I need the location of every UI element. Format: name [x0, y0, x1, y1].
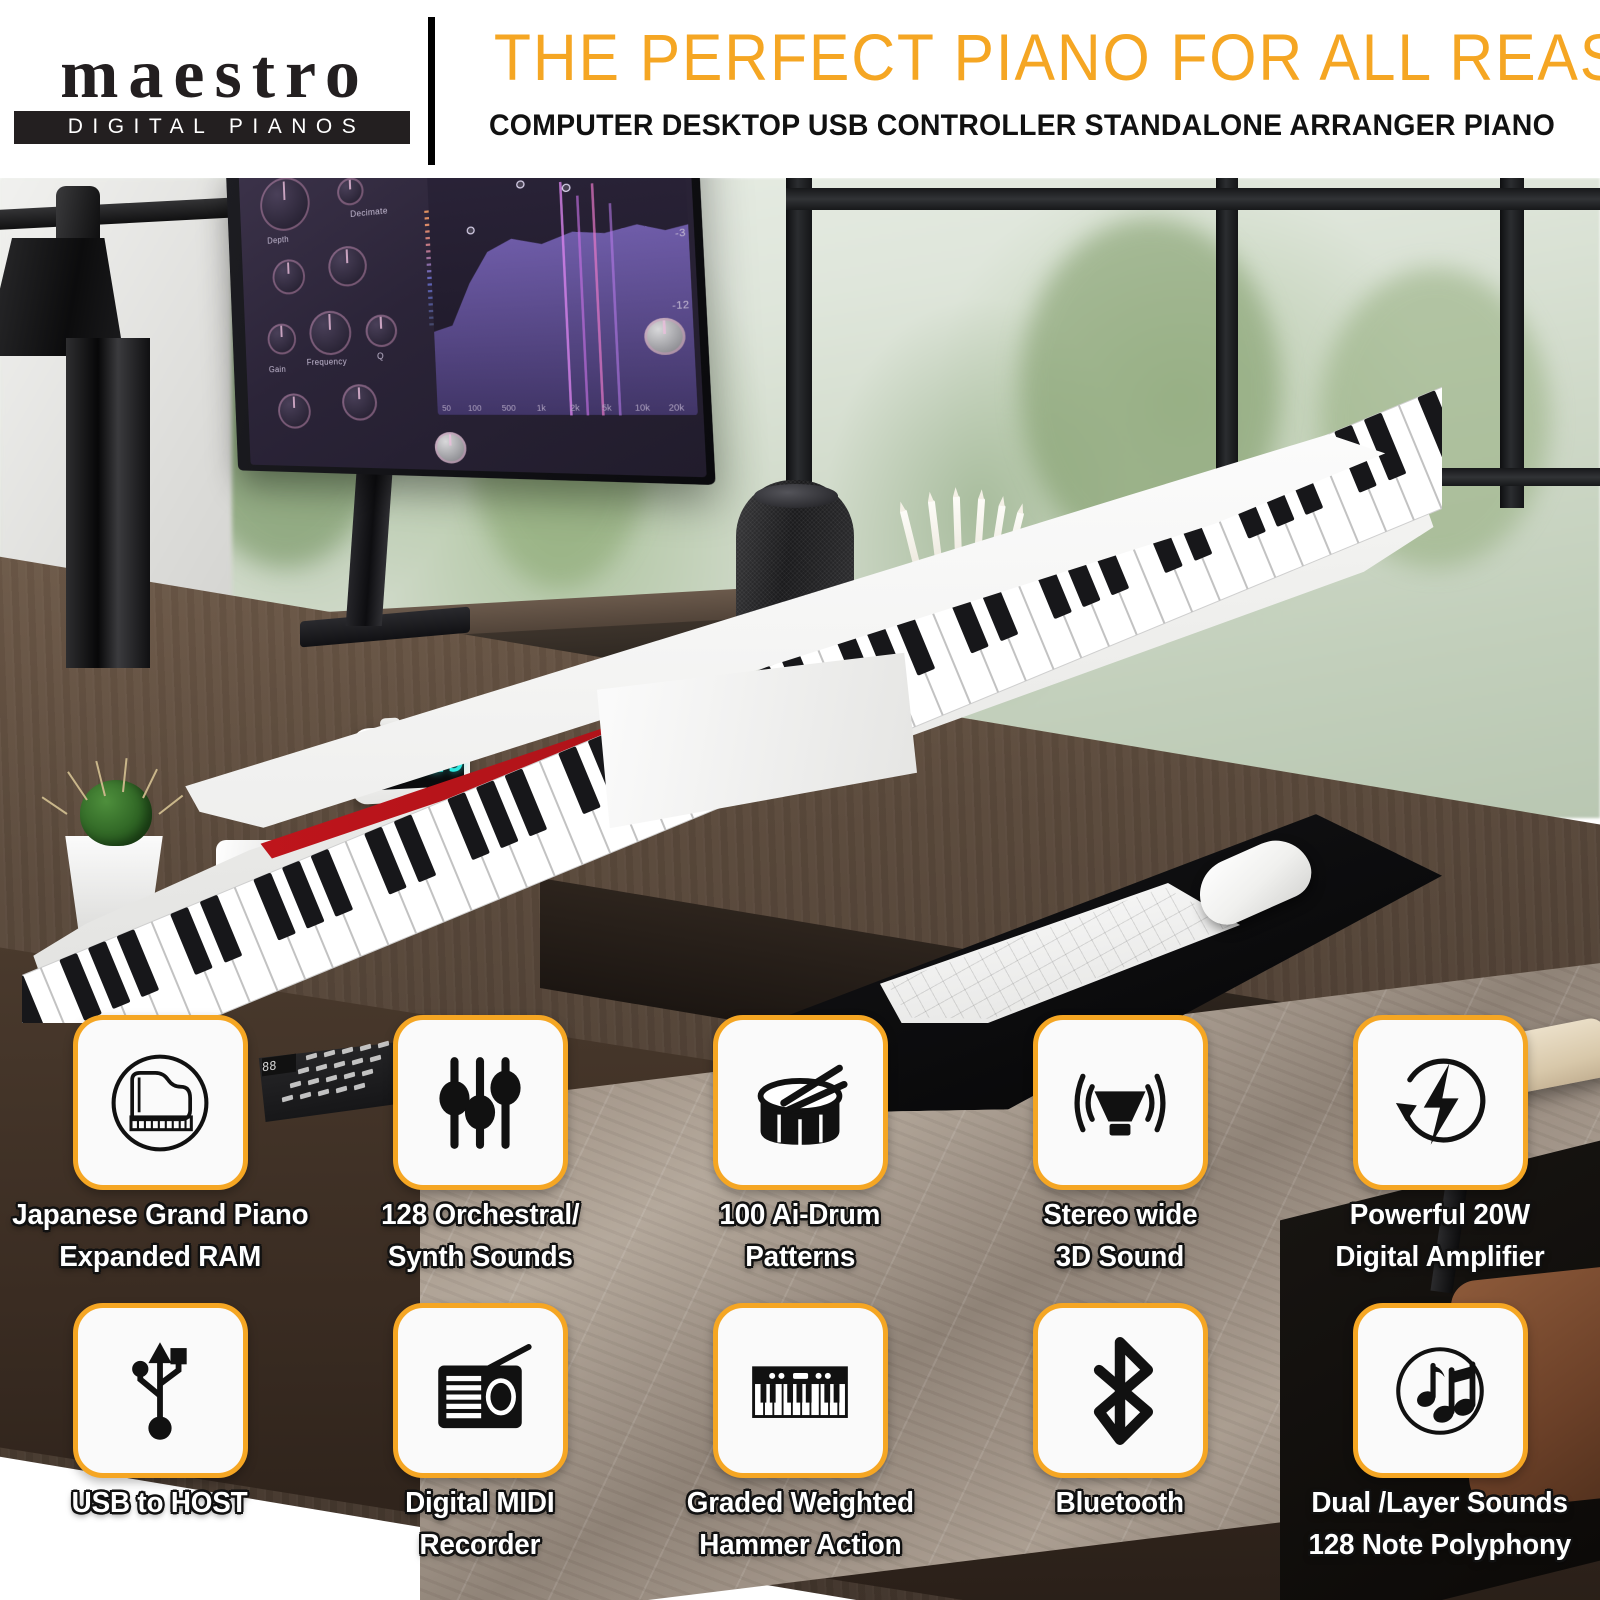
- feature-tile[interactable]: [73, 1303, 248, 1478]
- feature-tile[interactable]: [713, 1015, 888, 1190]
- q-knob[interactable]: [365, 314, 398, 348]
- eq-node[interactable]: [562, 183, 571, 192]
- feature-tile[interactable]: [1353, 1303, 1528, 1478]
- subheadline: COMPUTER DESKTOP USB CONTROLLER STANDALO…: [477, 108, 1568, 144]
- feature-hammer-action[interactable]: Graded Weighted Hammer Action: [640, 1303, 960, 1562]
- decimate-label: Decimate: [350, 206, 388, 219]
- feature-caption-line2: Hammer Action: [699, 1529, 901, 1562]
- feature-usb-host[interactable]: USB to HOST: [0, 1303, 320, 1562]
- headline: THE PERFECT PIANO FOR ALL REASONS: [494, 18, 1550, 96]
- header-divider: [428, 17, 435, 165]
- brand-name: maestro: [14, 42, 410, 109]
- faders-icon: [422, 1045, 538, 1161]
- feature-tile[interactable]: [713, 1303, 888, 1478]
- feature-row-2: USB to HOST: [0, 1303, 1600, 1562]
- feature-caption-line1: Bluetooth: [1056, 1487, 1184, 1520]
- feature-caption-line1: Dual /Layer Sounds: [1312, 1487, 1568, 1520]
- feature-icon-grid: Japanese Grand Piano Expanded RAM: [0, 1015, 1600, 1600]
- output-gain-knob[interactable]: [327, 245, 367, 288]
- feature-caption-line1: Stereo wide: [1043, 1199, 1197, 1232]
- product-marketing-image: maestro DIGITAL PIANOS THE PERFECT PIANO…: [0, 0, 1600, 1600]
- feature-caption-line2: 3D Sound: [1056, 1241, 1184, 1274]
- feature-caption-line1: Graded Weighted: [686, 1487, 913, 1520]
- feature-caption-line1: USB to HOST: [72, 1487, 248, 1520]
- feature-synth-sounds[interactable]: 128 Orchestral/ Synth Sounds: [320, 1015, 640, 1274]
- feature-polyphony[interactable]: Dual /Layer Sounds 128 Note Polyphony: [1280, 1303, 1600, 1562]
- drum-icon: [742, 1045, 858, 1161]
- feature-drum-patterns[interactable]: 100 Ai-Drum Patterns: [640, 1015, 960, 1274]
- feature-caption-line2: 128 Note Polyphony: [1309, 1529, 1572, 1562]
- speaker-waves-icon: [1062, 1045, 1178, 1161]
- db-tick: -12: [672, 299, 690, 311]
- bluetooth-icon: [1062, 1333, 1178, 1449]
- eq-node[interactable]: [467, 227, 475, 236]
- depth-label: Depth: [267, 235, 289, 246]
- frequency-knob[interactable]: [309, 310, 353, 356]
- feature-3d-sound[interactable]: Stereo wide 3D Sound: [960, 1015, 1280, 1274]
- feature-tile[interactable]: [393, 1015, 568, 1190]
- keyboard-keys-icon: [742, 1333, 858, 1449]
- feature-row-1: Japanese Grand Piano Expanded RAM: [0, 1015, 1600, 1274]
- feature-caption-line2: Expanded RAM: [59, 1241, 261, 1274]
- digital-piano: [22, 383, 1442, 1023]
- db-tick: -3: [675, 227, 686, 239]
- brand-logo: maestro DIGITAL PIANOS: [14, 42, 410, 144]
- radio-recorder-icon: [422, 1333, 538, 1449]
- brand-tagline: DIGITAL PIANOS: [59, 115, 366, 139]
- eq-curve-display[interactable]: 50 100 500 1k 2k 5k 10k 20k: [427, 178, 698, 415]
- feature-tile[interactable]: [73, 1015, 248, 1190]
- feature-tile[interactable]: [1353, 1015, 1528, 1190]
- mix-knob[interactable]: [272, 258, 306, 295]
- frequency-label: Frequency: [307, 357, 348, 368]
- feature-caption-line1: 100 Ai-Drum: [720, 1199, 881, 1232]
- drive-knob[interactable]: [337, 178, 365, 207]
- window-mullion: [1500, 178, 1524, 508]
- feature-tile[interactable]: [393, 1303, 568, 1478]
- feature-caption-line1: Powerful 20W: [1350, 1199, 1530, 1232]
- feature-amplifier[interactable]: Powerful 20W Digital Amplifier: [1280, 1015, 1600, 1274]
- header-text-block: THE PERFECT PIANO FOR ALL REASONS COMPUT…: [448, 18, 1596, 144]
- feature-tile[interactable]: [1033, 1303, 1208, 1478]
- lfo-knob[interactable]: [259, 178, 311, 233]
- feature-midi-recorder[interactable]: Digital MIDI Recorder: [320, 1303, 640, 1562]
- q-label: Q: [377, 351, 384, 361]
- feature-caption-line1: 128 Orchestral/: [381, 1199, 579, 1232]
- window-rail: [786, 188, 1600, 210]
- usb-icon: [102, 1333, 218, 1449]
- gain-label: Gain: [269, 365, 286, 375]
- feature-caption-line2: Digital Amplifier: [1335, 1241, 1544, 1274]
- power-bolt-icon: [1382, 1045, 1498, 1161]
- feature-caption-line1: Japanese Grand Piano: [12, 1199, 308, 1232]
- music-notes-icon: [1382, 1333, 1498, 1449]
- brand-tagline-bar: DIGITAL PIANOS: [14, 111, 410, 144]
- feature-grand-piano[interactable]: Japanese Grand Piano Expanded RAM: [0, 1015, 320, 1274]
- feature-caption-line2: Synth Sounds: [388, 1241, 573, 1274]
- grand-piano-icon: [102, 1045, 218, 1161]
- feature-caption-line2: Recorder: [420, 1529, 541, 1562]
- gain-knob[interactable]: [267, 323, 297, 355]
- feature-caption-line2: Patterns: [745, 1241, 855, 1274]
- feature-caption-line1: Digital MIDI: [405, 1487, 554, 1520]
- eq-node[interactable]: [516, 181, 525, 190]
- feature-tile[interactable]: [1033, 1015, 1208, 1190]
- feature-bluetooth[interactable]: Bluetooth: [960, 1303, 1280, 1562]
- header-banner: maestro DIGITAL PIANOS THE PERFECT PIANO…: [0, 0, 1600, 178]
